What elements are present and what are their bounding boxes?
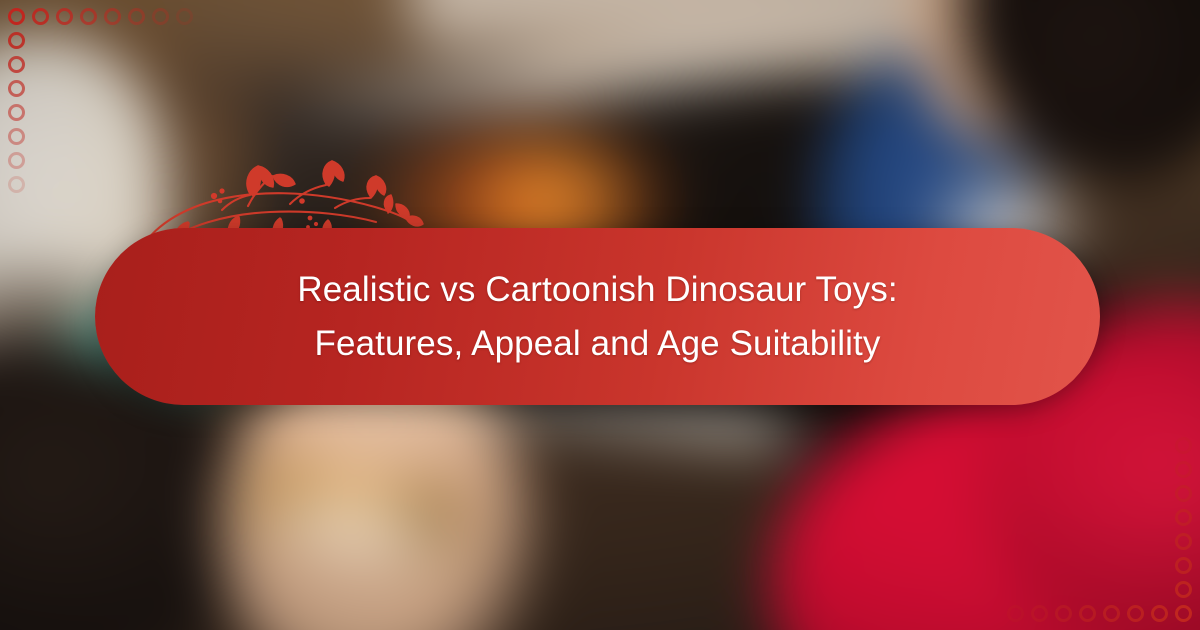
dot: [1175, 485, 1192, 502]
dot: [1103, 605, 1120, 622]
dot: [1007, 605, 1024, 622]
dot: [1175, 533, 1192, 550]
dot: [56, 8, 73, 25]
dot: [1175, 509, 1192, 526]
dot: [80, 8, 97, 25]
dot: [1031, 605, 1048, 622]
dot: [176, 8, 193, 25]
dot: [8, 152, 25, 169]
dot: [152, 8, 169, 25]
dot: [8, 80, 25, 97]
dot: [1175, 437, 1192, 454]
dot: [1175, 461, 1192, 478]
dot: [32, 8, 49, 25]
dot: [1175, 581, 1192, 598]
dot: [1079, 605, 1096, 622]
page-title: Realistic vs Cartoonish Dinosaur Toys: F…: [237, 263, 957, 369]
title-line-1: Realistic vs Cartoonish Dinosaur Toys:: [297, 263, 897, 316]
dot: [8, 56, 25, 73]
dot: [8, 104, 25, 121]
dot: [1175, 557, 1192, 574]
title-line-2: Features, Appeal and Age Suitability: [297, 317, 897, 370]
banner-stage: Realistic vs Cartoonish Dinosaur Toys: F…: [0, 0, 1200, 630]
dot: [8, 128, 25, 145]
dot: [8, 8, 25, 25]
dot: [104, 8, 121, 25]
dot: [1127, 605, 1144, 622]
title-pill: Realistic vs Cartoonish Dinosaur Toys: F…: [95, 228, 1100, 405]
dot: [1151, 605, 1168, 622]
dot: [128, 8, 145, 25]
dot: [8, 176, 25, 193]
dot: [8, 32, 25, 49]
dot: [1175, 605, 1192, 622]
dot: [1055, 605, 1072, 622]
